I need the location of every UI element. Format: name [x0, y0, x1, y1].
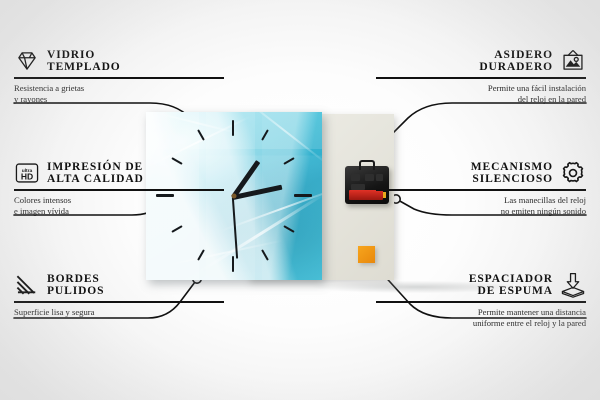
feature-description: Permite una fácil instalación del reloj …: [376, 83, 586, 106]
feature-title-line2: DE ESPUMA: [469, 285, 553, 297]
feature-title-line1: IMPRESIÓN DE: [47, 161, 144, 173]
feature-title-line2: ALTA CALIDAD: [47, 173, 144, 185]
clock-tick: [294, 194, 312, 197]
feature-mecanismo-silencioso: MECANISMO SILENCIOSO Las manecillas del …: [376, 160, 586, 217]
feature-title-line2: SILENCIOSO: [471, 173, 553, 185]
hanging-frame-icon: [560, 48, 586, 74]
clock-tick: [232, 256, 234, 272]
feature-rule: [14, 77, 224, 79]
clock-center-pin: [232, 194, 237, 199]
feature-rule: [376, 77, 586, 79]
feature-title-line1: BORDES: [47, 273, 104, 285]
ultra-hd-icon: ultra HD: [14, 160, 40, 186]
feature-rule: [376, 189, 586, 191]
diamond-icon: [14, 48, 40, 74]
mechanism-shaft: [359, 160, 375, 170]
feature-description: Superficie lisa y segura: [14, 307, 224, 318]
feature-description: Las manecillas del reloj no emiten ningú…: [376, 195, 586, 218]
arrow-on-foam-icon: [560, 272, 586, 298]
feature-description: Permite mantener una distancia uniforme …: [376, 307, 586, 330]
feature-title-line1: MECANISMO: [471, 161, 553, 173]
feature-title-line2: PULIDOS: [47, 285, 104, 297]
infographic-canvas: VIDRIO TEMPLADO Resistencia a grietas y …: [0, 0, 600, 400]
diagonal-lines-icon: [14, 272, 40, 298]
feature-impresion-alta-calidad: ultra HD IMPRESIÓN DE ALTA CALIDAD Color…: [14, 160, 224, 217]
feature-title-line1: ESPACIADOR: [469, 273, 553, 285]
connector-line-asidero: [378, 103, 586, 148]
feature-asidero-duradero: ASIDERO DURADERO Permite una fácil insta…: [376, 48, 586, 105]
feature-bordes-pulidos: BORDES PULIDOS Superficie lisa y segura: [14, 272, 224, 318]
feature-title-line1: VIDRIO: [47, 49, 121, 61]
feature-rule: [14, 301, 224, 303]
foam-spacer: [358, 246, 375, 263]
feature-title-line1: ASIDERO: [479, 49, 553, 61]
feature-espaciador-de-espuma: ESPACIADOR DE ESPUMA Permite mantener un…: [376, 272, 586, 329]
feature-rule: [14, 189, 224, 191]
feature-vidrio-templado: VIDRIO TEMPLADO Resistencia a grietas y …: [14, 48, 224, 105]
feature-title-line2: DURADERO: [479, 61, 553, 73]
gear-icon: [560, 160, 586, 186]
feature-rule: [376, 301, 586, 303]
feature-description: Colores intensos e imagen vívida: [14, 195, 224, 218]
feature-title-line2: TEMPLADO: [47, 61, 121, 73]
ultra-hd-icon-bottom: HD: [21, 172, 33, 182]
feature-description: Resistencia a grietas y rayones: [14, 83, 224, 106]
clock-tick: [232, 120, 234, 136]
